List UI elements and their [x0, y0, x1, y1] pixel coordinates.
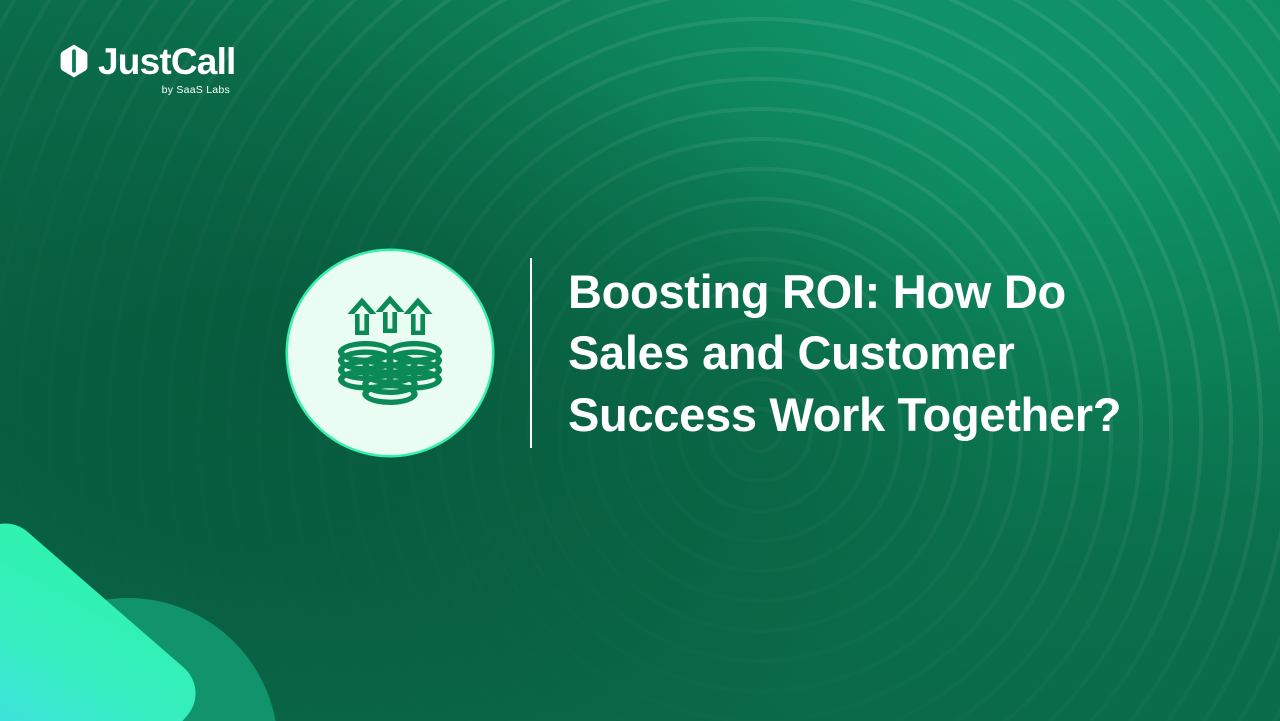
- title-divider: [530, 258, 532, 448]
- slide-title: Boosting ROI: How Do Sales and Customer …: [568, 261, 1128, 444]
- justcall-logo[interactable]: JustCall by SaaS Labs: [60, 40, 290, 102]
- coins-growth-icon: [326, 294, 454, 412]
- hero-block: Boosting ROI: How Do Sales and Customer …: [288, 251, 1128, 455]
- logo-row: JustCall: [60, 40, 290, 82]
- justcall-logo-mark: [60, 44, 88, 78]
- title-slide: JustCall by SaaS Labs: [0, 0, 1280, 721]
- logo-tagline: by SaaS Labs: [60, 85, 230, 96]
- logo-wordmark: JustCall: [98, 43, 236, 80]
- hero-icon-badge: [288, 251, 492, 455]
